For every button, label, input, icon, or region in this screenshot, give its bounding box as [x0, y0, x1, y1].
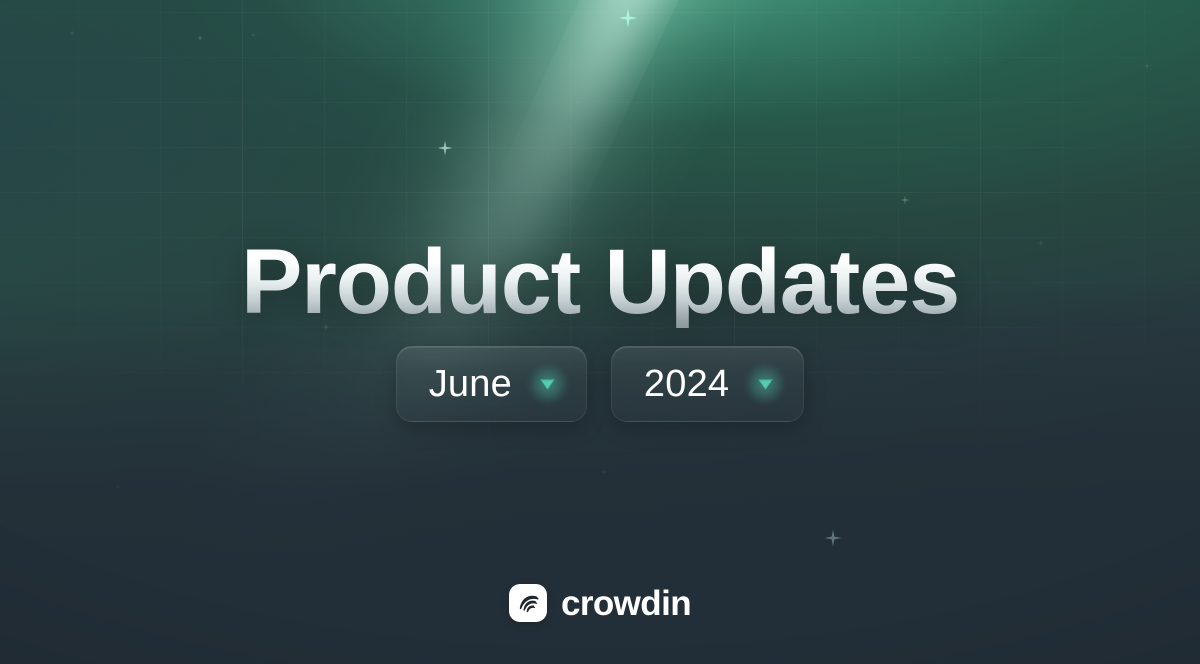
product-updates-hero-banner: Product Updates June 2024 [0, 0, 1200, 664]
brand-logo: crowdin [0, 584, 1200, 622]
date-selector-group: June 2024 [396, 346, 805, 422]
chevron-down-icon[interactable] [747, 366, 783, 402]
year-selector[interactable]: 2024 [611, 346, 804, 422]
month-selector[interactable]: June [396, 346, 587, 422]
page-title: Product Updates [241, 236, 959, 328]
month-selector-label: June [429, 365, 512, 403]
chevron-down-icon[interactable] [530, 366, 566, 402]
hero-content: Product Updates June 2024 [0, 0, 1200, 664]
crowdin-logo-icon [509, 584, 547, 622]
brand-name: crowdin [561, 586, 691, 621]
year-selector-label: 2024 [644, 365, 729, 403]
